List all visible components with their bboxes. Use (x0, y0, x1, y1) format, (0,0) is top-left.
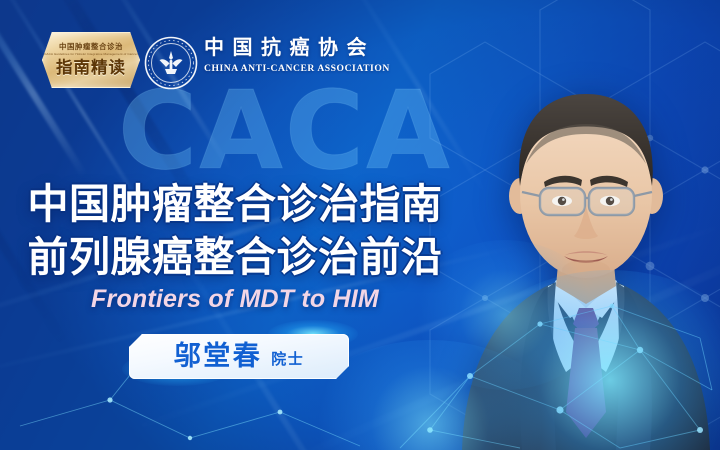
subtitle-english: Frontiers of MDT to HIM (0, 287, 470, 312)
main-title-line-2: 前列腺癌整合诊治前沿 (0, 231, 470, 284)
speaker-title: 院士 (271, 352, 304, 367)
caca-emblem-icon (144, 36, 198, 90)
main-title: 中国肿瘤整合诊治指南 前列腺癌整合诊治前沿 (0, 178, 470, 284)
caca-watermark: CACA (118, 78, 452, 186)
organization-names: 中国抗癌协会 CHINA ANTI-CANCER ASSOCIATION (204, 38, 390, 74)
guide-badge: 中国肿瘤整合诊治 CACA Guidelines for Holistic In… (42, 32, 140, 88)
poster-root: CACA (0, 0, 720, 450)
speaker-name-badge: 邬堂春 院士 (129, 334, 349, 379)
organization-name-cn: 中国抗癌协会 (204, 38, 390, 58)
organization-name-en: CHINA ANTI-CANCER ASSOCIATION (204, 64, 390, 74)
speaker-name: 邬堂春 (174, 343, 263, 370)
guide-badge-main-text: 指南精读 (56, 60, 126, 77)
guide-badge-english-subline: CACA Guidelines for Holistic Integrative… (44, 53, 138, 56)
main-title-line-1: 中国肿瘤整合诊治指南 (0, 178, 470, 231)
guide-badge-top-text: 中国肿瘤整合诊治 (59, 43, 123, 50)
